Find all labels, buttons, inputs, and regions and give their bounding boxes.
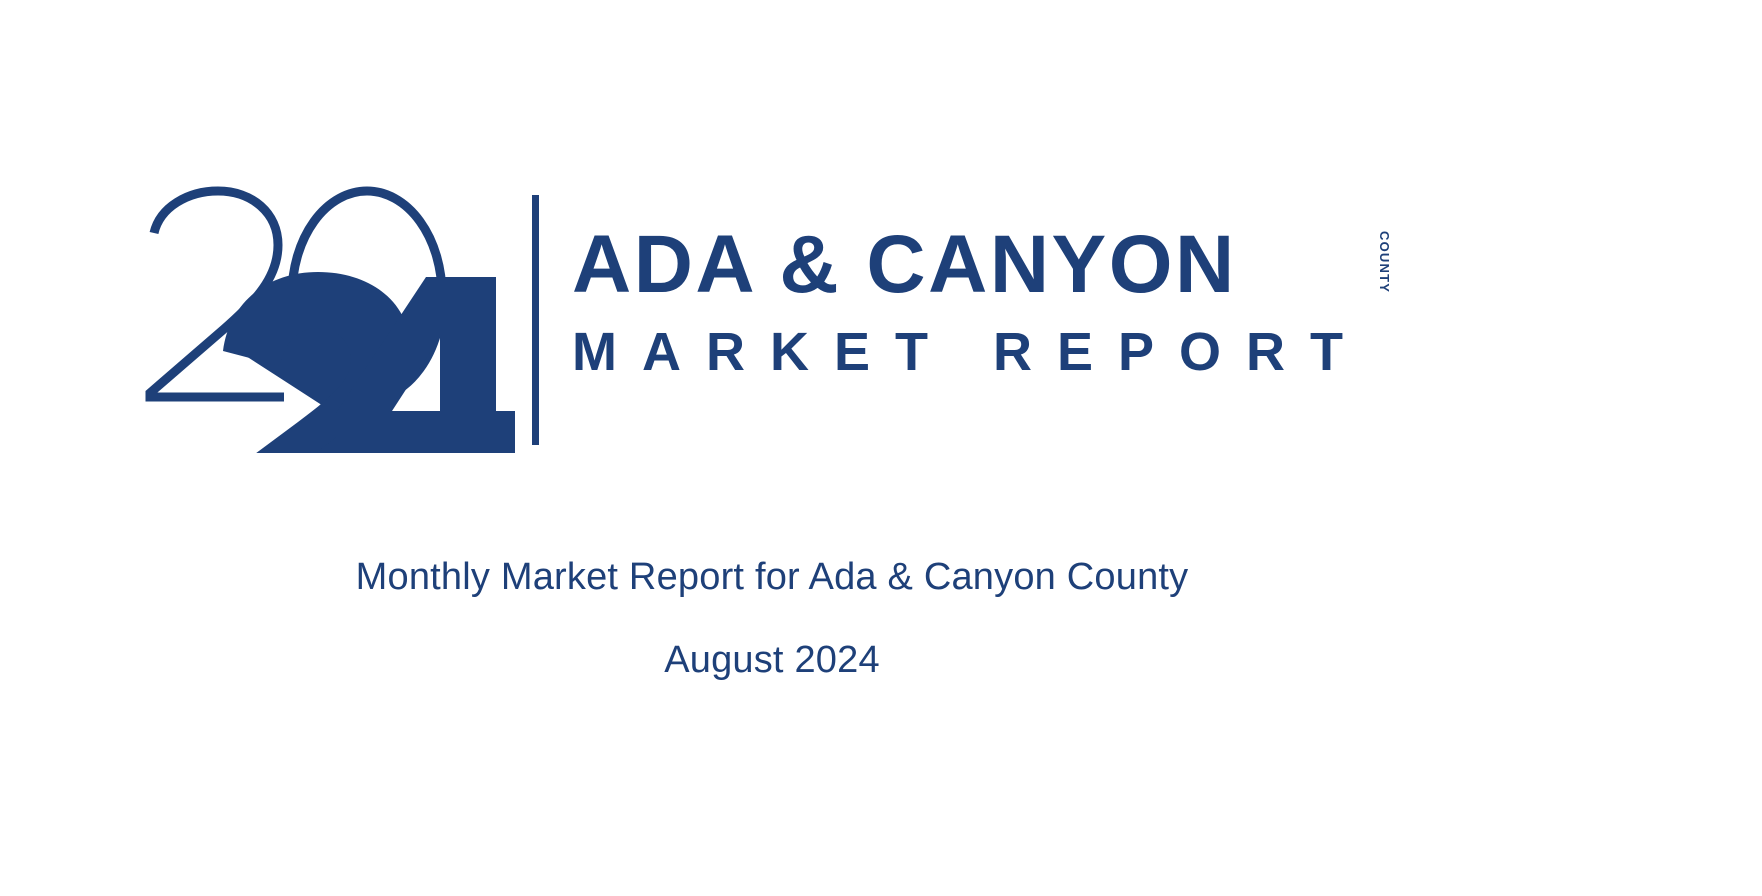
logo-divider (532, 195, 539, 445)
wordmark-secondary-text: MARKET REPORT (572, 323, 1432, 381)
wordmark-county-superscript: COUNTY (1378, 231, 1391, 293)
brand-logo-lockup: ADA & CANYON COUNTY MARKET REPORT (140, 185, 1430, 455)
subtitle-block: Monthly Market Report for Ada & Canyon C… (0, 548, 1544, 689)
brand-wordmark: ADA & CANYON COUNTY MARKET REPORT (572, 223, 1432, 381)
report-scope-line: Monthly Market Report for Ada & Canyon C… (0, 548, 1544, 606)
wordmark-primary-text: ADA & CANYON (572, 223, 1432, 307)
year-mark-2024-icon (140, 185, 515, 453)
report-period-line: August 2024 (0, 631, 1544, 689)
solid-24-icon (223, 272, 515, 453)
title-slide: ADA & CANYON COUNTY MARKET REPORT Monthl… (0, 0, 1762, 896)
